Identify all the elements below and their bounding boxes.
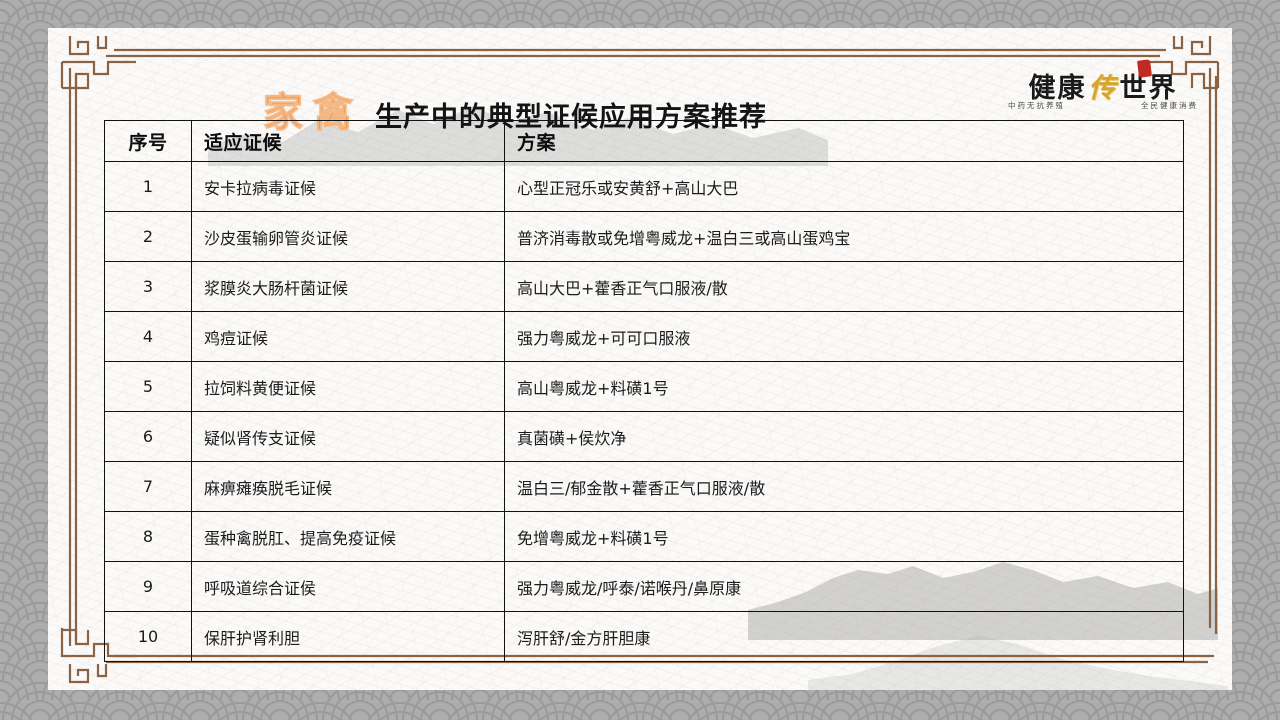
row-cell-symptom: 拉饲料黄便证候 (192, 362, 505, 412)
row-cell-plan: 泻肝舒/金方肝胆康 (505, 612, 1184, 662)
brand-subtitle: 中药无抗养殖 全民健康消费 (1008, 100, 1198, 111)
treatment-plan-table: 序号 适应证候 方案 1安卡拉病毒证候心型正冠乐或安黄舒+高山大巴2沙皮蛋输卵管… (104, 120, 1184, 662)
row-cell-no: 4 (105, 312, 192, 362)
row-cell-symptom: 鸡痘证候 (192, 312, 505, 362)
table-row: 7麻痹瘫痪脱毛证候温白三/郁金散+藿香正气口服液/散 (105, 462, 1184, 512)
table-row: 8蛋种禽脱肛、提高免疫证候免增粤威龙+料磺1号 (105, 512, 1184, 562)
column-header-no: 序号 (105, 121, 192, 162)
table-row: 1安卡拉病毒证候心型正冠乐或安黄舒+高山大巴 (105, 162, 1184, 212)
row-cell-plan: 普济消毒散或免增粤威龙+温白三或高山蛋鸡宝 (505, 212, 1184, 262)
column-header-symptom: 适应证候 (192, 121, 505, 162)
brand-logo: 健康传世界 中药无抗养殖 全民健康消费 (1008, 58, 1198, 124)
row-cell-symptom: 安卡拉病毒证候 (192, 162, 505, 212)
row-cell-no: 6 (105, 412, 192, 462)
table-row: 10保肝护肾利胆泻肝舒/金方肝胆康 (105, 612, 1184, 662)
row-cell-plan: 免增粤威龙+料磺1号 (505, 512, 1184, 562)
row-cell-no: 3 (105, 262, 192, 312)
table-row: 9呼吸道综合证侯强力粤威龙/呼泰/诺喉丹/鼻原康 (105, 562, 1184, 612)
table-row: 4鸡痘证候强力粤威龙+可可口服液 (105, 312, 1184, 362)
brand-subtitle-left: 中药无抗养殖 (1008, 100, 1065, 111)
row-cell-symptom: 浆膜炎大肠杆菌证候 (192, 262, 505, 312)
red-seal-icon (1137, 59, 1152, 77)
row-cell-plan: 真菌磺+侯炊净 (505, 412, 1184, 462)
table-row: 2沙皮蛋输卵管炎证候普济消毒散或免增粤威龙+温白三或高山蛋鸡宝 (105, 212, 1184, 262)
row-cell-no: 1 (105, 162, 192, 212)
table-row: 3浆膜炎大肠杆菌证候高山大巴+藿香正气口服液/散 (105, 262, 1184, 312)
table-header-row: 序号 适应证候 方案 (105, 121, 1184, 162)
slide-header: 家禽 生产中的典型证候应用方案推荐 健康传世界 中药无抗养殖 全民健康消费 (48, 28, 1232, 120)
table-row: 6疑似肾传支证候真菌磺+侯炊净 (105, 412, 1184, 462)
row-cell-no: 8 (105, 512, 192, 562)
row-cell-plan: 心型正冠乐或安黄舒+高山大巴 (505, 162, 1184, 212)
row-cell-symptom: 蛋种禽脱肛、提高免疫证候 (192, 512, 505, 562)
row-cell-plan: 强力粤威龙+可可口服液 (505, 312, 1184, 362)
brand-subtitle-right: 全民健康消费 (1141, 100, 1198, 111)
row-cell-no: 10 (105, 612, 192, 662)
slide-card: 家禽 生产中的典型证候应用方案推荐 健康传世界 中药无抗养殖 全民健康消费 序号… (48, 28, 1232, 690)
row-cell-plan: 高山粤威龙+料磺1号 (505, 362, 1184, 412)
row-cell-no: 7 (105, 462, 192, 512)
column-header-plan: 方案 (505, 121, 1184, 162)
row-cell-no: 2 (105, 212, 192, 262)
row-cell-symptom: 呼吸道综合证侯 (192, 562, 505, 612)
row-cell-plan: 温白三/郁金散+藿香正气口服液/散 (505, 462, 1184, 512)
row-cell-plan: 高山大巴+藿香正气口服液/散 (505, 262, 1184, 312)
row-cell-symptom: 保肝护肾利胆 (192, 612, 505, 662)
row-cell-no: 5 (105, 362, 192, 412)
table-body: 1安卡拉病毒证候心型正冠乐或安黄舒+高山大巴2沙皮蛋输卵管炎证候普济消毒散或免增… (105, 162, 1184, 662)
table-header: 序号 适应证候 方案 (105, 121, 1184, 162)
row-cell-no: 9 (105, 562, 192, 612)
row-cell-plan: 强力粤威龙/呼泰/诺喉丹/鼻原康 (505, 562, 1184, 612)
row-cell-symptom: 疑似肾传支证候 (192, 412, 505, 462)
row-cell-symptom: 沙皮蛋输卵管炎证候 (192, 212, 505, 262)
row-cell-symptom: 麻痹瘫痪脱毛证候 (192, 462, 505, 512)
table-row: 5拉饲料黄便证候高山粤威龙+料磺1号 (105, 362, 1184, 412)
